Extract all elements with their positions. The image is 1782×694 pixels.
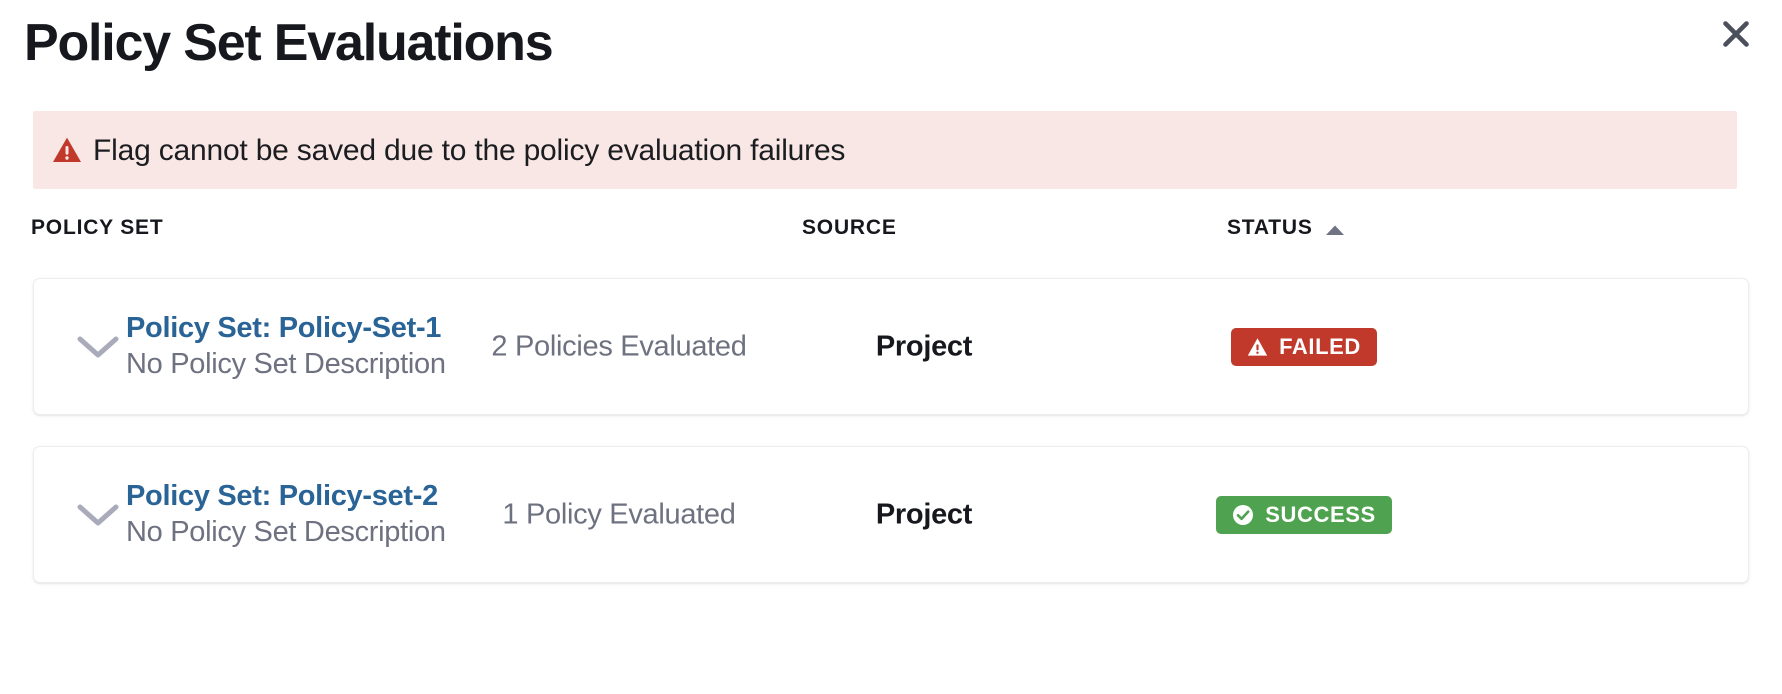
table-row[interactable]: Policy Set: Policy-Set-1 No Policy Set D… [33,278,1749,415]
status-cell: FAILED [1134,328,1474,366]
policy-set-name-cell: Policy Set: Policy-Set-1 No Policy Set D… [126,310,466,384]
policy-set-list: Policy Set: Policy-Set-1 No Policy Set D… [0,278,1782,614]
policy-set-link[interactable]: Policy Set: Policy-set-2 [126,478,466,514]
column-header-policy-set[interactable]: POLICY SET [31,216,163,240]
close-icon[interactable] [1712,10,1760,58]
warning-triangle-icon [1247,337,1268,357]
column-header-source[interactable]: SOURCE [802,216,897,240]
status-badge-label: FAILED [1279,334,1361,360]
alert-message: Flag cannot be saved due to the policy e… [93,134,845,167]
policy-set-link[interactable]: Policy Set: Policy-Set-1 [126,310,466,346]
table-row[interactable]: Policy Set: Policy-set-2 No Policy Set D… [33,446,1749,583]
policy-source: Project [794,498,1054,531]
warning-triangle-icon [52,135,82,165]
chevron-down-icon[interactable] [76,493,120,537]
status-badge-label: SUCCESS [1265,502,1376,528]
policies-evaluated-count: 2 Policies Evaluated [454,330,784,363]
page-title: Policy Set Evaluations [24,12,552,74]
policy-set-description: No Policy Set Description [126,346,466,384]
column-header-status-label: STATUS [1227,216,1313,240]
status-badge: SUCCESS [1216,496,1392,534]
policy-set-description: No Policy Set Description [126,514,466,552]
sort-ascending-arrow-icon [1325,224,1345,236]
policies-evaluated-count: 1 Policy Evaluated [454,498,784,531]
chevron-down-icon[interactable] [76,325,120,369]
policy-set-name-cell: Policy Set: Policy-set-2 No Policy Set D… [126,478,466,552]
check-circle-icon [1232,504,1254,526]
column-header-status[interactable]: STATUS [1227,216,1345,240]
policy-failure-alert: Flag cannot be saved due to the policy e… [33,111,1737,189]
status-badge: FAILED [1231,328,1377,366]
policy-source: Project [794,330,1054,363]
table-header-row: POLICY SET SOURCE STATUS [0,216,1782,262]
policy-set-evaluations-dialog: Policy Set Evaluations Flag cannot be sa… [0,0,1782,694]
status-cell: SUCCESS [1134,496,1474,534]
